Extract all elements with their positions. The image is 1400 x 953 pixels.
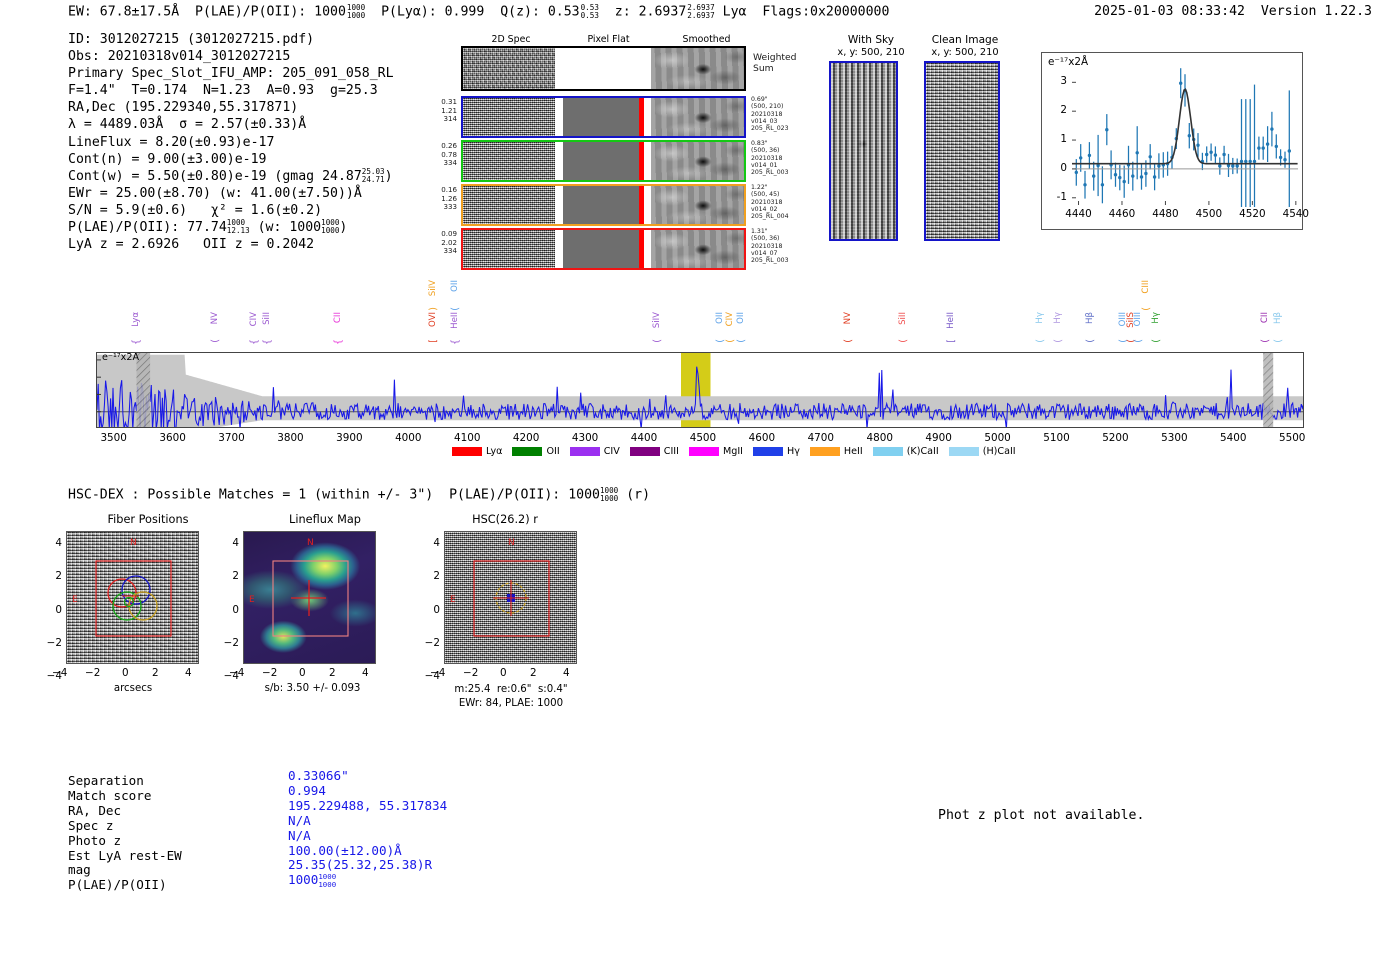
zoom-xtick: 4500 — [1189, 208, 1229, 220]
legend-swatch — [630, 447, 660, 456]
emission-line-label: OII — [736, 312, 746, 324]
emission-line-bracket: ( — [1151, 339, 1162, 343]
fullspec-xtick: 5200 — [1091, 432, 1139, 444]
info-continuum-narrow: Cont(n) = 9.00(±3.00)e-19 — [68, 151, 394, 168]
zoom-ytick: -1 — [1042, 191, 1067, 203]
legend-label: OII — [546, 446, 559, 457]
fullspec-xtick: 5400 — [1209, 432, 1257, 444]
header-plae-label: P(LAE)/P(OII): 1000 — [195, 5, 346, 20]
legend-swatch — [753, 447, 783, 456]
fiber-row-4 — [461, 228, 746, 270]
emission-line-label: OVI — [428, 312, 438, 327]
fullspec-xtick: 4400 — [620, 432, 668, 444]
fullspec-xtick: 5500 — [1268, 432, 1316, 444]
fiber-row-2 — [461, 140, 746, 182]
emission-line-bracket: { — [249, 339, 260, 345]
fiber-row-2-meta: 0.83" (500, 36) 20210318 v014_01 205_RL_… — [751, 140, 789, 176]
weighted-sum-label: Weighted Sum — [753, 52, 797, 74]
fiber-row-3-meta: 1.22" (500, 45) 20210318 v014_02 205_RL_… — [751, 184, 789, 220]
info-obs: Obs: 20210318v014_3012027215 — [68, 48, 394, 65]
header-qz-bounds: 0.530.53 — [581, 4, 599, 19]
header-flags: Flags:0x20000000 — [762, 5, 889, 20]
emission-line-bracket: ( — [1053, 339, 1064, 343]
fov-box — [96, 561, 171, 636]
legend-swatch — [810, 447, 840, 456]
legend-swatch — [452, 447, 482, 456]
legend-entry: HeII — [810, 446, 863, 457]
fullspec-xtick: 4100 — [443, 432, 491, 444]
info-continuum-wide: Cont(w) = 5.50(±0.80)e-19 (gmag 24.8725.… — [68, 168, 394, 185]
fullspec-xtick: 5100 — [1033, 432, 1081, 444]
legend-label: Lyα — [486, 446, 502, 457]
match-property-key: RA, Dec — [68, 804, 121, 819]
fullspec-xtick: 4000 — [384, 432, 432, 444]
clean-image — [924, 61, 1000, 241]
emission-line-label: SiIV — [652, 312, 662, 328]
emission-line-label: CIII — [1141, 280, 1151, 294]
weighted-sum-row — [461, 46, 746, 91]
legend-label: MgII — [723, 446, 743, 457]
legend-entry: (H)CaII — [949, 446, 1016, 457]
fiber-positions-title: Fiber Positions — [63, 513, 233, 526]
lineflux-map-sb: s/b: 3.50 +/- 0.093 — [240, 683, 385, 694]
match-property-key: Spec z — [68, 819, 114, 834]
east-marker: E — [249, 595, 255, 605]
source-info-block: ID: 3012027215 (3012027215.pdf)Obs: 2021… — [68, 31, 394, 253]
lineflux-map-title: Lineflux Map — [240, 513, 410, 526]
zoom-ytick: 3 — [1042, 75, 1067, 87]
match-property-value: N/A — [288, 814, 311, 829]
emission-line-bracket: { — [450, 339, 461, 345]
legend-entry: OII — [512, 446, 559, 457]
emission-line-bracket: { — [262, 339, 273, 345]
info-ewr: EWr = 25.00(±8.70) (w: 41.00(±7.50))Å — [68, 185, 394, 202]
emission-line-label: HeII — [946, 312, 956, 329]
full-spectrum-chart: e⁻¹⁷x2Å 0123 — [96, 352, 1304, 428]
header-z-label: z: 2.6937 — [615, 5, 686, 20]
emission-line-bracket: ( — [725, 339, 736, 343]
emission-line-label: CII — [333, 312, 343, 323]
info-seeing: F=1.4" T=0.174 N=1.23 A=0.93 g=25.3 — [68, 82, 394, 99]
emission-line-bracket: ( — [898, 339, 909, 343]
info-snr-chi2: S/N = 5.9(±0.6) χ² = 1.6(±0.2) — [68, 202, 394, 219]
fullspec-xtick: 4700 — [797, 432, 845, 444]
match-property-key: P(LAE)/P(OII) — [68, 878, 167, 893]
legend-entry: CIV — [570, 446, 620, 457]
fullspec-xtick: 5300 — [1150, 432, 1198, 444]
info-redshifts: LyA z = 2.6926 OII z = 0.2042 — [68, 236, 394, 253]
fullspec-xtick: 4600 — [738, 432, 786, 444]
fullspec-xtick: 4800 — [856, 432, 904, 444]
fiber-row-4-stats: 0.09 2.02 334 — [423, 230, 457, 256]
header-plae-bounds: 10001000 — [347, 4, 365, 19]
hsc-dex-match-heading: HSC-DEX : Possible Matches = 1 (within +… — [68, 487, 650, 503]
legend-swatch — [570, 447, 600, 456]
emission-line-bracket: ( — [450, 307, 461, 311]
emission-line-bracket: ( — [652, 339, 663, 343]
fiber-positions-xlabel: arcsecs — [63, 683, 203, 694]
plae-bounds: 100012.13 — [227, 219, 250, 234]
fullspec-xtick: 5000 — [974, 432, 1022, 444]
fiber-positions-xticks: −4 −2 0 2 4 — [52, 667, 214, 680]
zoom-xtick: 4480 — [1145, 208, 1185, 220]
emission-line-legend: LyαOIICIVCIIIMgIIHγHeII(K)CaII(H)CaII — [452, 446, 1016, 457]
legend-entry: MgII — [689, 446, 743, 457]
timestamp: 2025-01-03 08:33:42 — [1094, 4, 1245, 19]
emission-line-label: HeII — [450, 312, 460, 329]
legend-entry: Lyα — [452, 446, 502, 457]
legend-entry: (K)CaII — [873, 446, 939, 457]
with-sky-title: With Sky — [826, 34, 916, 46]
clean-image-coords: x, y: 500, 210 — [920, 47, 1010, 58]
legend-swatch — [949, 447, 979, 456]
emission-line-label: SiIV — [428, 280, 438, 296]
hsc-dex-band: (r) — [618, 488, 650, 503]
info-lineflux: LineFlux = 8.20(±0.93)e-17 — [68, 134, 394, 151]
version-label: Version 1.22.3 — [1261, 4, 1372, 19]
masked-region — [137, 353, 151, 428]
emission-line-label: Hγ — [1151, 312, 1161, 324]
north-marker: N — [307, 538, 314, 548]
legend-label: Hγ — [787, 446, 800, 457]
col-header-pixelflat: Pixel Flat — [561, 34, 656, 45]
emission-line-label: SiII — [898, 312, 908, 325]
fiber-positions-image: N E — [66, 531, 199, 664]
emission-line-bracket: ( — [715, 339, 726, 343]
hsc-rband-photometry: m:25.4 re:0.6" s:0.4" EWr: 84, PLAE: 100… — [436, 683, 586, 711]
info-plae-ratio: P(LAE)/P(OII): 77.74100012.13 (w: 100010… — [68, 219, 394, 236]
fullspec-xtick: 4900 — [915, 432, 963, 444]
emission-line-bracket: ( — [1085, 339, 1096, 343]
zoom-xtick: 4540 — [1276, 208, 1316, 220]
legend-entry: CIII — [630, 446, 679, 457]
masked-region — [1263, 353, 1273, 428]
emission-line-label: Lyα — [131, 312, 141, 327]
info-primary-spec: Primary Spec_Slot_IFU_AMP: 205_091_058_R… — [68, 65, 394, 82]
emission-line-label: SiII — [262, 312, 272, 325]
match-property-value: 0.33066" — [288, 769, 349, 784]
lineflux-map-xticks: −4 −2 0 2 4 — [229, 667, 391, 680]
legend-label: HeII — [844, 446, 863, 457]
hsc-rband-title: HSC(26.2) r — [420, 513, 590, 526]
fullspec-xtick: 4300 — [561, 432, 609, 444]
fullspec-xtick: 3600 — [149, 432, 197, 444]
col-header-2dspec: 2D Spec — [461, 34, 561, 45]
fullspec-xtick: 3700 — [208, 432, 256, 444]
with-sky-image — [829, 61, 898, 241]
emission-line-label: Hγ — [1035, 312, 1045, 324]
emission-line-label: Hβ — [1273, 312, 1283, 324]
full-spectrum-svg — [97, 353, 1304, 428]
fullspec-xtick: 4500 — [679, 432, 727, 444]
fullspec-xtick: 3500 — [90, 432, 138, 444]
match-property-key: mag — [68, 863, 91, 878]
clean-image-title: Clean Image — [920, 34, 1010, 46]
zoomed-line-profile-chart: e⁻¹⁷x2Å 444044604480450045204540 -10123 — [1041, 52, 1303, 230]
fullspec-xtick: 3900 — [325, 432, 373, 444]
match-property-key: Photo z — [68, 834, 121, 849]
info-id: ID: 3012027215 (3012027215.pdf) — [68, 31, 394, 48]
zoom-ytick: 0 — [1042, 162, 1067, 174]
header-plya: P(Lyα): 0.999 — [381, 5, 484, 20]
match-property-value: 195.229488, 55.317834 — [288, 799, 447, 814]
legend-label: (K)CaII — [907, 446, 939, 457]
match-plae-bounds: 10001000 — [318, 873, 336, 888]
plae-wide-bounds: 10001000 — [321, 219, 339, 234]
header-ew: EW: 67.8±17.5Å — [68, 5, 179, 20]
emission-line-label: CII — [1260, 312, 1270, 323]
emission-line-bracket: ) — [428, 307, 439, 311]
emission-line-label: NV — [843, 312, 853, 324]
emission-line-bracket: { — [131, 339, 142, 345]
emission-line-bracket: ( — [843, 339, 854, 343]
fiber-row-2-stats: 0.26 0.78 334 — [423, 142, 457, 168]
header-timestamp-version: 2025-01-03 08:33:42 Version 1.22.3 — [1094, 4, 1372, 19]
header-line-species: Lyα — [723, 5, 747, 20]
emission-line-label: CIV — [725, 312, 735, 326]
emission-line-bracket: [ — [428, 339, 439, 343]
legend-entry: Hγ — [753, 446, 800, 457]
east-marker: E — [72, 595, 78, 605]
emission-line-bracket: ( — [1273, 339, 1284, 343]
match-property-value: 25.35(25.32,25.38)R — [288, 858, 432, 873]
emission-line-bracket: ( — [1133, 339, 1144, 343]
match-property-key: Match score — [68, 789, 151, 804]
emission-line-bracket: ( — [1141, 307, 1152, 311]
hsc-dex-plae-bounds: 10001000 — [600, 487, 618, 502]
lineflux-map-image: N E — [243, 531, 376, 664]
legend-swatch — [512, 447, 542, 456]
col-header-smoothed: Smoothed — [659, 34, 754, 45]
zoom-xtick: 4520 — [1232, 208, 1272, 220]
fiber-row-1-meta: 0.69" (500, 210) 20210318 v014_03 205_RL… — [751, 96, 789, 132]
emission-line-label: OII — [450, 280, 460, 292]
emission-line-bracket: ( — [1260, 339, 1271, 343]
header-qz-label: Q(z): 0.53 — [500, 5, 579, 20]
info-lambda-sigma: λ = 4489.03Å σ = 2.57(±0.33)Å — [68, 116, 394, 133]
match-property-key: Separation — [68, 774, 144, 789]
fullspec-flux-unit-annotation: e⁻¹⁷x2Å — [102, 352, 139, 363]
fullspec-xtick: 4200 — [502, 432, 550, 444]
emission-line-label: Hβ — [1085, 312, 1095, 324]
fiber-row-3 — [461, 184, 746, 226]
north-marker: N — [130, 538, 137, 548]
zoom-plot-svg — [1042, 53, 1304, 231]
emission-line-bracket: ( — [736, 339, 747, 343]
legend-swatch — [873, 447, 903, 456]
match-property-key: Est LyA rest-EW — [68, 849, 182, 864]
header-z-bounds: 2.69372.6937 — [687, 4, 714, 19]
match-property-value: 100.00(±12.00)Å — [288, 844, 402, 859]
match-property-value: 0.994 — [288, 784, 326, 799]
with-sky-coords: x, y: 500, 210 — [826, 47, 916, 58]
fullspec-xtick: 3800 — [266, 432, 314, 444]
legend-label: CIII — [664, 446, 679, 457]
fiber-row-4-meta: 1.31" (500, 36) 20210318 v014_07 205_RL_… — [751, 228, 789, 264]
hsc-dex-text: HSC-DEX : Possible Matches = 1 (within +… — [68, 488, 600, 503]
east-marker: E — [450, 595, 456, 605]
north-marker: N — [508, 538, 515, 548]
gmag-bounds: 25.0324.71 — [362, 168, 385, 183]
zoom-ytick: 2 — [1042, 104, 1067, 116]
emission-line-bracket: ( — [1035, 339, 1046, 343]
fiber-row-1 — [461, 96, 746, 138]
match-property-value: N/A — [288, 829, 311, 844]
legend-label: CIV — [604, 446, 620, 457]
emission-line-bracket: { — [333, 339, 344, 345]
hsc-rband-xticks: −4 −2 0 2 4 — [430, 667, 592, 680]
hsc-rband-image: N E — [444, 531, 577, 664]
fiber-row-1-stats: 0.31 1.21 314 — [423, 98, 457, 124]
zoom-xtick: 4440 — [1059, 208, 1099, 220]
header-summary-line: EW: 67.8±17.5Å P(LAE)/P(OII): 1000100010… — [68, 4, 889, 20]
fiber-row-3-stats: 0.16 1.26 333 — [423, 186, 457, 212]
emission-line-label: CIV — [249, 312, 259, 326]
zoom-xtick: 4460 — [1102, 208, 1142, 220]
zoom-ytick: 1 — [1042, 133, 1067, 145]
photz-unavailable-note: Phot z plot not available. — [938, 808, 1144, 823]
emission-line-label: OII — [715, 312, 725, 324]
emission-line-label: Hγ — [1053, 312, 1063, 324]
emission-line-bracket: ( — [210, 339, 221, 343]
emission-line-label: OIII — [1133, 312, 1143, 326]
emission-line-label: NV — [210, 312, 220, 324]
info-radec: RA,Dec (195.229340,55.317871) — [68, 99, 394, 116]
legend-swatch — [689, 447, 719, 456]
legend-label: (H)CaII — [983, 446, 1016, 457]
match-property-value: 100010001000 — [288, 873, 336, 888]
emission-line-bracket: [ — [946, 339, 957, 343]
